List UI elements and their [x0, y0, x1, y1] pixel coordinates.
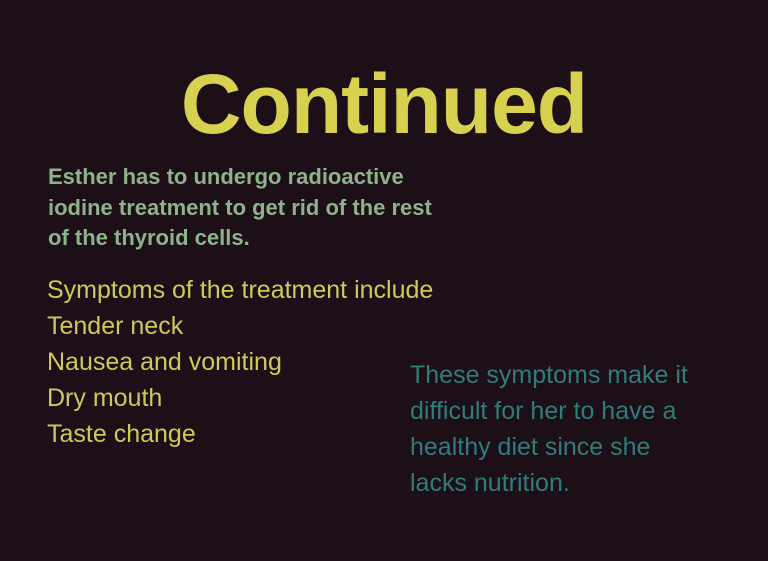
symptom-list-heading: Symptoms of the treatment include [47, 272, 517, 308]
slide-title: Continued [0, 60, 768, 148]
presentation-slide: Continued Esther has to undergo radioact… [0, 0, 768, 561]
list-item: Tender neck [47, 308, 517, 344]
intro-paragraph: Esther has to undergo radioactive iodine… [48, 162, 452, 254]
note-paragraph: These symptoms make it difficult for her… [410, 357, 710, 501]
